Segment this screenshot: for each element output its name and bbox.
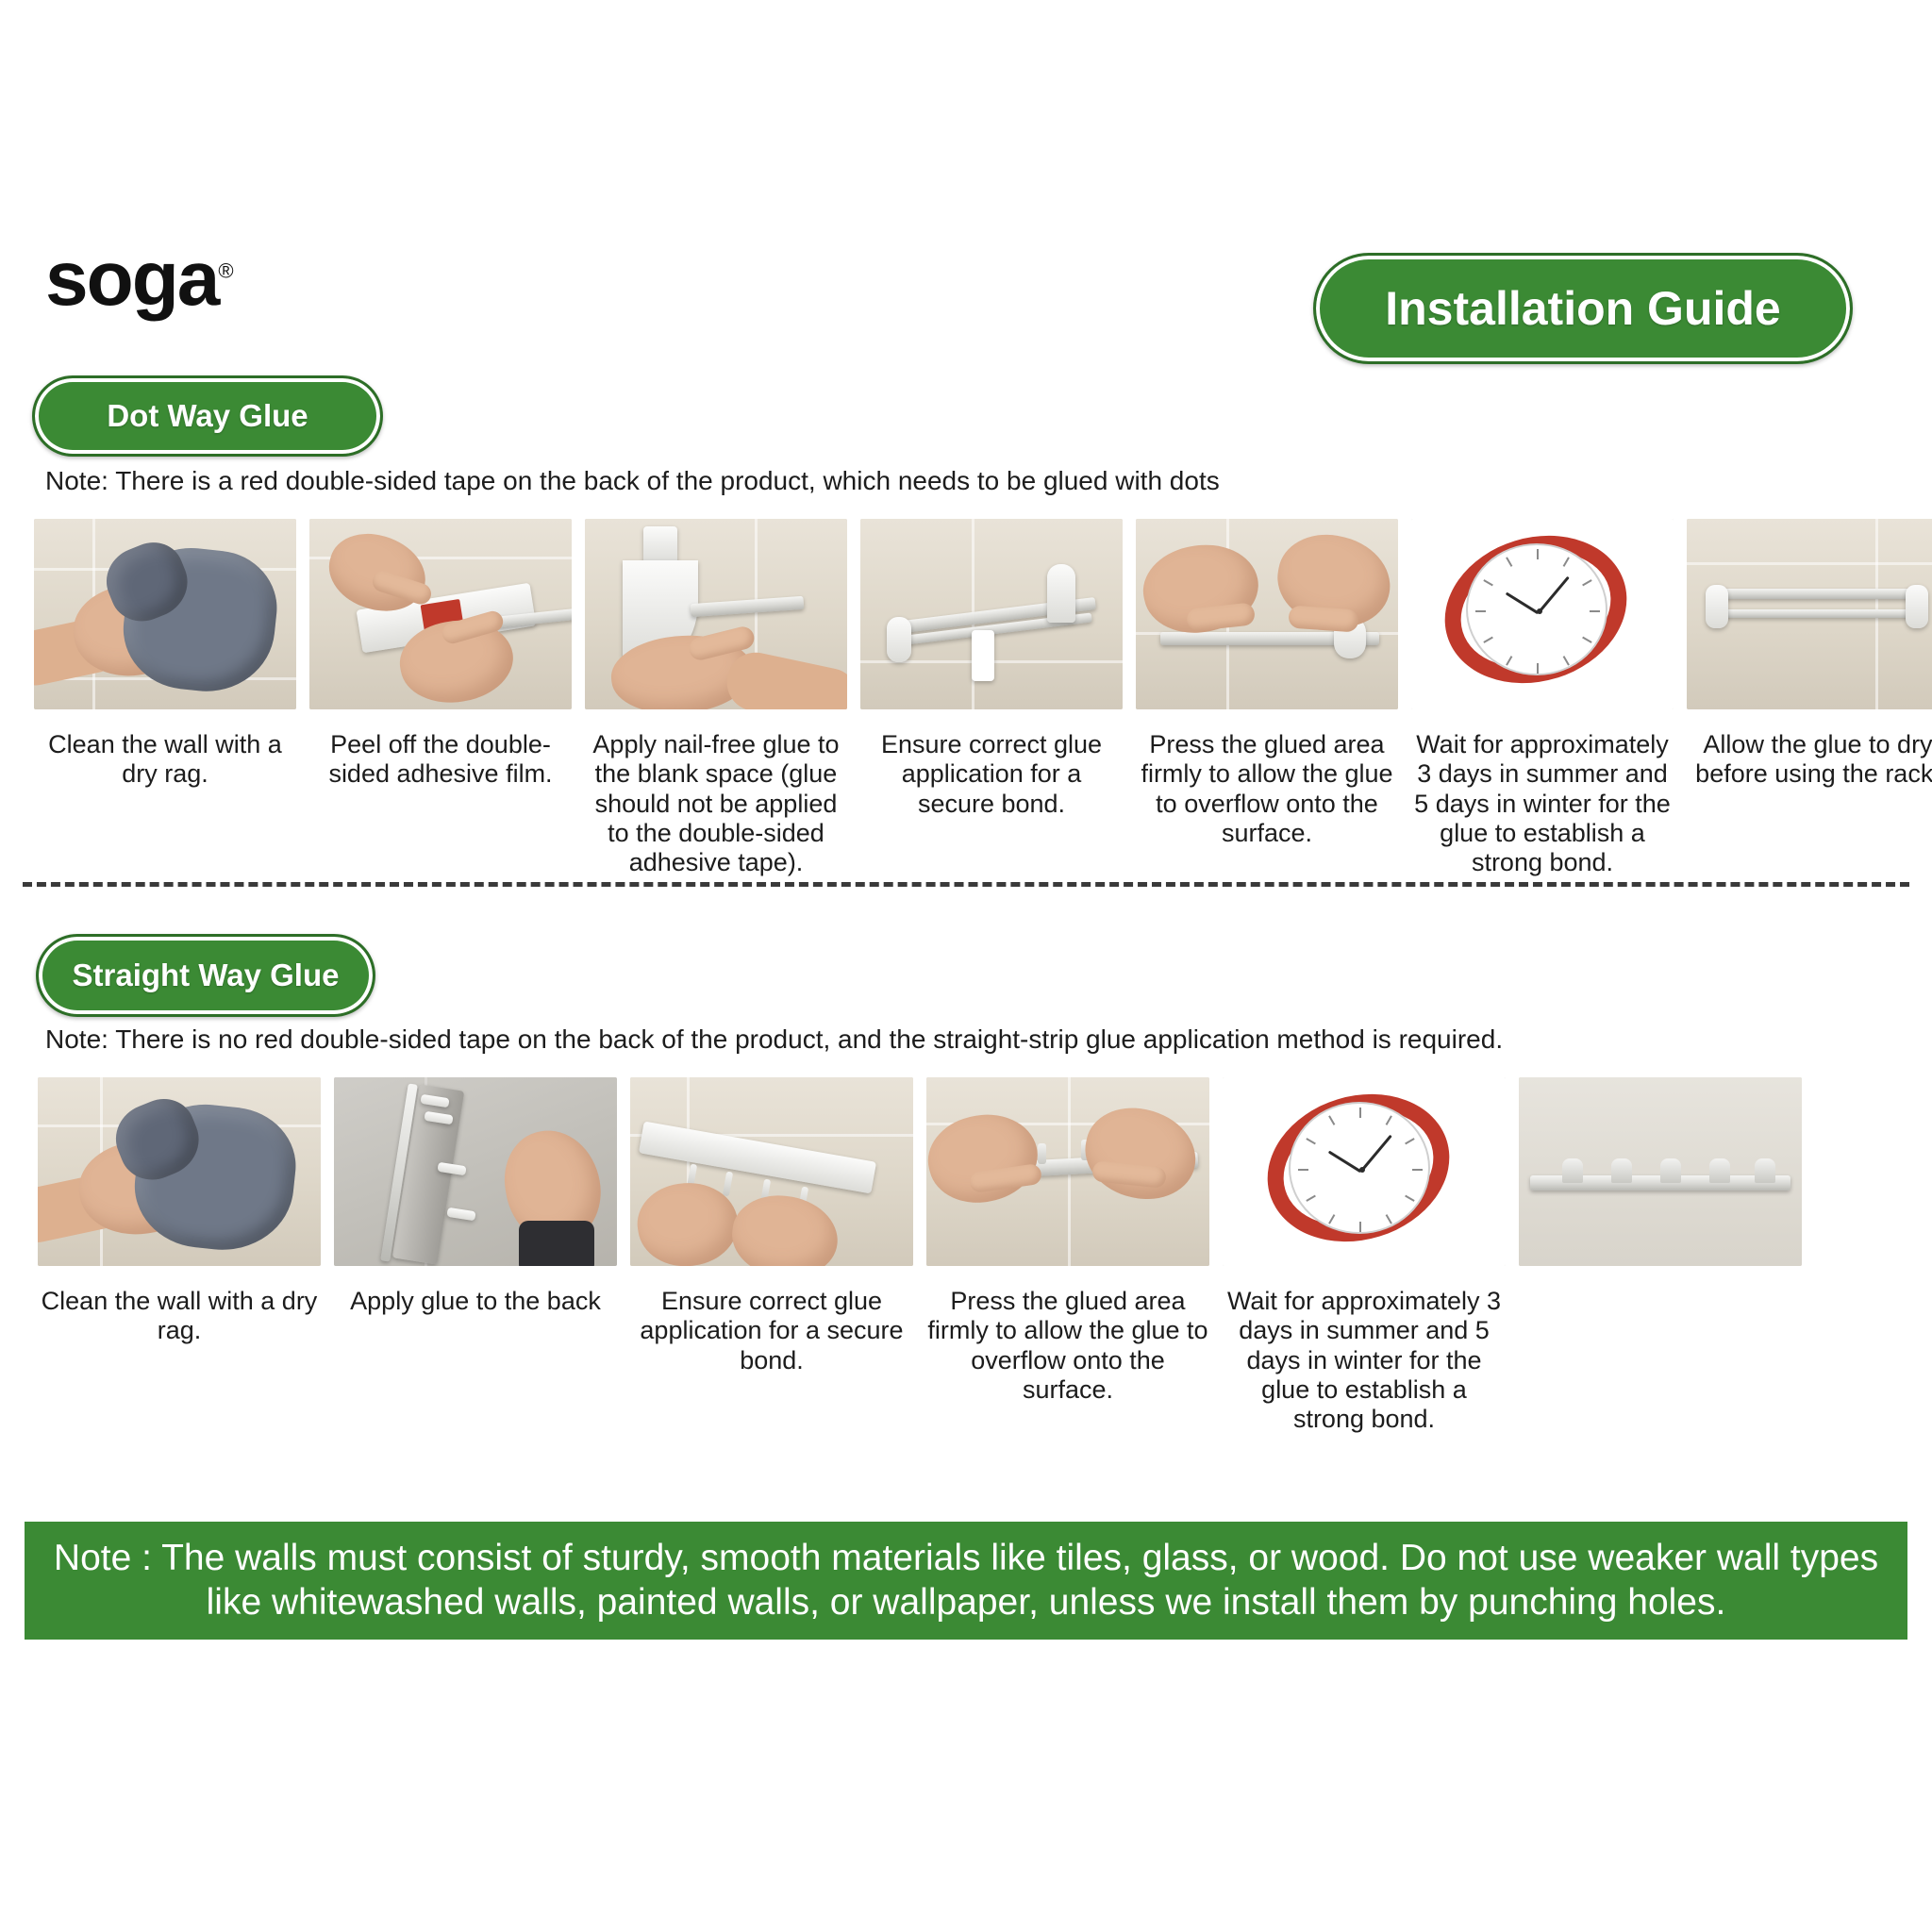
step-photo-glue-on-back xyxy=(334,1077,617,1266)
step-caption: Wait for approximately 3 days in summer … xyxy=(1223,1287,1506,1435)
step-photo-installed-hook-rail xyxy=(1519,1077,1802,1266)
step-photo-clean-wall-2 xyxy=(38,1077,321,1266)
step-photo-installed-rack xyxy=(1687,519,1932,709)
step-caption: Apply glue to the back xyxy=(334,1287,617,1316)
step-photo-peel-film xyxy=(309,519,572,709)
step-caption: Wait for approximately 3 days in summer … xyxy=(1411,730,1674,878)
step-caption: Press the glued area firmly to allow the… xyxy=(926,1287,1209,1405)
dot-way-glue-badge: Dot Way Glue xyxy=(32,375,383,457)
dot-way-glue-note: Note: There is a red double-sided tape o… xyxy=(45,466,1220,496)
step-caption: Ensure correct glue application for a se… xyxy=(630,1287,913,1375)
clock-face-icon xyxy=(1466,543,1607,675)
step-photo-apply-glue xyxy=(585,519,847,709)
step-caption: Allow the glue to dry before using the r… xyxy=(1687,730,1932,790)
step-card: Apply glue to the back xyxy=(334,1077,617,1435)
straight-way-glue-steps: Clean the wall with a dry rag. Apply glu… xyxy=(38,1077,1519,1435)
step-card: Wait for approximately 3 days in summer … xyxy=(1223,1077,1506,1435)
brand-logo: soga® xyxy=(45,241,232,318)
dot-way-glue-steps: Clean the wall with a dry rag. Peel off … xyxy=(34,519,1902,878)
clock-face-icon xyxy=(1289,1102,1430,1234)
step-caption: Press the glued area firmly to allow the… xyxy=(1136,730,1398,848)
step-photo-hook-rail-held xyxy=(630,1077,913,1266)
step-caption: Clean the wall with a dry rag. xyxy=(38,1287,321,1346)
step-card xyxy=(1519,1077,1802,1435)
installation-guide-badge-label: Installation Guide xyxy=(1385,281,1780,336)
page-header: soga® Installation Guide xyxy=(0,0,1932,311)
footer-note-text: Note : The walls must consist of sturdy,… xyxy=(45,1537,1887,1625)
step-photo-check-glue xyxy=(860,519,1123,709)
step-card: Press the glued area firmly to allow the… xyxy=(926,1077,1209,1435)
step-card: Apply nail-free glue to the blank space … xyxy=(585,519,847,878)
straight-way-glue-badge: Straight Way Glue xyxy=(36,934,375,1017)
step-card: Allow the glue to dry before using the r… xyxy=(1687,519,1932,878)
step-caption: Clean the wall with a dry rag. xyxy=(34,730,296,790)
step-photo-wait-clock xyxy=(1411,519,1674,709)
step-photo-press-hook-rail xyxy=(926,1077,1209,1266)
dot-way-glue-badge-label: Dot Way Glue xyxy=(107,398,308,434)
step-caption: Peel off the double-sided adhesive film. xyxy=(309,730,572,790)
step-caption: Apply nail-free glue to the blank space … xyxy=(585,730,847,878)
brand-logo-text: soga xyxy=(45,236,218,322)
step-card: Ensure correct glue application for a se… xyxy=(860,519,1123,878)
step-card: Clean the wall with a dry rag. xyxy=(38,1077,321,1435)
step-photo-clean-wall xyxy=(34,519,296,709)
installation-guide-badge: Installation Guide xyxy=(1313,253,1853,364)
step-photo-wait-clock-2 xyxy=(1223,1077,1506,1266)
registered-trademark-icon: ® xyxy=(218,259,231,283)
straight-way-glue-badge-label: Straight Way Glue xyxy=(73,958,340,993)
step-card: Press the glued area firmly to allow the… xyxy=(1136,519,1398,878)
step-card: Clean the wall with a dry rag. xyxy=(34,519,296,878)
straight-way-glue-note: Note: There is no red double-sided tape … xyxy=(45,1024,1503,1055)
step-card: Peel off the double-sided adhesive film. xyxy=(309,519,572,878)
footer-note-banner: Note : The walls must consist of sturdy,… xyxy=(25,1522,1907,1640)
step-photo-press-firmly xyxy=(1136,519,1398,709)
step-card: Ensure correct glue application for a se… xyxy=(630,1077,913,1435)
section-divider xyxy=(23,882,1909,887)
step-card: Wait for approximately 3 days in summer … xyxy=(1411,519,1674,878)
installation-guide-page: soga® Installation Guide Dot Way Glue No… xyxy=(0,0,1932,1932)
step-caption: Ensure correct glue application for a se… xyxy=(860,730,1123,819)
